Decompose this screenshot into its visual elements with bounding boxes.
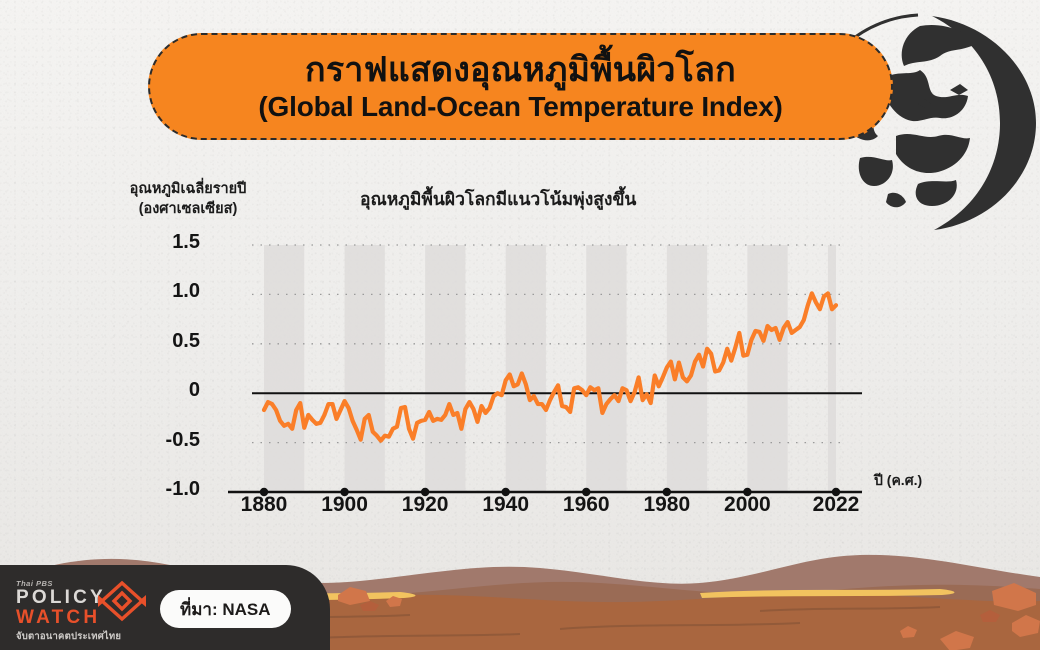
y-tick-label: 0.5 bbox=[130, 330, 200, 353]
chart-background-band bbox=[586, 245, 626, 492]
x-axis-title: ปี (ค.ศ.) bbox=[874, 470, 922, 492]
x-tick-label: 1880 bbox=[219, 493, 309, 517]
x-tick-label: 1920 bbox=[380, 493, 470, 517]
chart-background-band bbox=[828, 245, 836, 492]
x-tick-label: 1940 bbox=[461, 493, 551, 517]
diamond-logo-icon bbox=[96, 579, 148, 623]
y-tick-label: 1.0 bbox=[130, 280, 200, 303]
x-tick-label: 2000 bbox=[702, 493, 792, 517]
logo-tagline: จับตาอนาคตประเทศไทย bbox=[16, 629, 156, 644]
page-title-thai: กราฟแสดงอุณหภูมิพื้นผิวโลก bbox=[305, 51, 736, 89]
chart-background-band bbox=[747, 245, 787, 492]
y-tick-label: -0.5 bbox=[130, 429, 200, 452]
x-tick-label: 1900 bbox=[300, 493, 390, 517]
chart-background-band bbox=[264, 245, 304, 492]
chart-background-band bbox=[425, 245, 465, 492]
y-tick-label: 1.5 bbox=[130, 231, 200, 254]
x-tick-label: 2022 bbox=[791, 493, 881, 517]
x-axis-tick-labels: 18801900192019401960198020002022 bbox=[0, 493, 1040, 527]
source-badge: ที่มา: NASA bbox=[160, 590, 291, 628]
chart-background-band bbox=[345, 245, 385, 492]
x-tick-label: 1980 bbox=[622, 493, 712, 517]
y-axis-tick-labels: 1.51.00.50-0.5-1.0 bbox=[130, 170, 200, 540]
x-tick-label: 1960 bbox=[541, 493, 631, 517]
chart-container: อุณหภูมิเฉลี่ยรายปี (องศาเซลเซียส) อุณหภ… bbox=[0, 170, 1040, 540]
title-banner: กราฟแสดงอุณหภูมิพื้นผิวโลก (Global Land-… bbox=[148, 33, 893, 140]
chart-background-band bbox=[506, 245, 546, 492]
y-tick-label: 0 bbox=[130, 379, 200, 402]
page-title-english: (Global Land-Ocean Temperature Index) bbox=[258, 91, 782, 122]
